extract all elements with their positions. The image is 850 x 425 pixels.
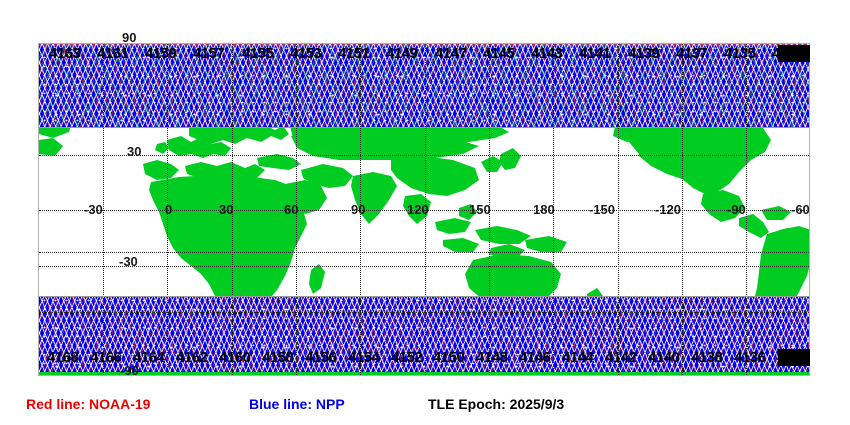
orbit-top-4155: 4155 (242, 45, 273, 62)
lon-label-4: 90 (351, 202, 365, 217)
lon-label-0: -30 (84, 202, 103, 217)
orbit-top-4145: 4145 (483, 45, 514, 62)
orbit-top-4157: 4157 (193, 45, 224, 62)
orbit-bottom-4164: 4164 (133, 349, 164, 366)
legend-noaa19: Red line: NOAA-19 (26, 396, 150, 412)
orbit-top-4143: 4143 (531, 45, 562, 62)
orbit-top-edge-blob (778, 45, 810, 62)
orbit-bottom-4156: 4156 (305, 349, 336, 366)
legend: Red line: NOAA-19 Blue line: NPP TLE Epo… (0, 396, 850, 418)
orbit-bottom-4144: 4144 (562, 349, 593, 366)
lon-label-5: 120 (407, 202, 429, 217)
orbit-top-4149: 4149 (386, 45, 417, 62)
orbit-bottom-4142: 4142 (605, 349, 636, 366)
lon-label-11: -60 (791, 202, 810, 217)
orbit-bottom-4146: 4146 (519, 349, 550, 366)
orbit-top-4159: 4159 (145, 45, 176, 62)
orbit-bottom-edge-blob (778, 349, 810, 366)
legend-tle-epoch: TLE Epoch: 2025/9/3 (428, 396, 564, 412)
orbit-bottom-4138: 4138 (691, 349, 722, 366)
orbit-bottom-4152: 4152 (391, 349, 422, 366)
orbit-bottom-4140: 4140 (648, 349, 679, 366)
lon-label-1: 0 (165, 202, 172, 217)
lon-label-3: 60 (284, 202, 298, 217)
orbit-top-4139: 4139 (628, 45, 659, 62)
legend-npp: Blue line: NPP (249, 396, 345, 412)
orbit-top-4153: 4153 (290, 45, 321, 62)
lat-label-1: -30 (119, 254, 138, 269)
lon-label-8: -150 (589, 202, 615, 217)
orbit-number-row-top: 4163416141594157415541534151414941474145… (38, 45, 810, 64)
orbit-bottom-4162: 4162 (176, 349, 207, 366)
lon-label-10: -90 (727, 202, 746, 217)
lon-label-2: 30 (219, 202, 233, 217)
orbit-top-4161: 4161 (97, 45, 128, 62)
map-canvas[interactable]: -300306090120150180-150-120-90-60 30-30 (38, 43, 810, 376)
orbit-top-4141: 4141 (579, 45, 610, 62)
orbit-number-row-bottom: 4168416641644162416041584156415441524150… (38, 349, 810, 368)
orbit-bottom-4154: 4154 (348, 349, 379, 366)
orbit-top-4137: 4137 (676, 45, 707, 62)
orbit-bottom-4160: 4160 (219, 349, 250, 366)
orbit-bottom-4136: 4136 (734, 349, 765, 366)
lon-label-9: -120 (655, 202, 681, 217)
orbit-top-4147: 4147 (435, 45, 466, 62)
orbit-bottom-4168: 4168 (47, 349, 78, 366)
lat-label-0: 30 (127, 144, 141, 159)
lon-label-6: 150 (469, 202, 491, 217)
orbit-bottom-4150: 4150 (433, 349, 464, 366)
orbit-top-4151: 4151 (338, 45, 369, 62)
orbit-top-4135: 4135 (724, 45, 755, 62)
orbit-bottom-4148: 4148 (476, 349, 507, 366)
satellite-ground-track-map: 90 (0, 0, 850, 425)
lon-label-7: 180 (533, 202, 555, 217)
antarctica-strip (39, 372, 810, 376)
orbit-bottom-4158: 4158 (262, 349, 293, 366)
orbit-top-4163: 4163 (49, 45, 80, 62)
orbit-bottom-4166: 4166 (90, 349, 121, 366)
